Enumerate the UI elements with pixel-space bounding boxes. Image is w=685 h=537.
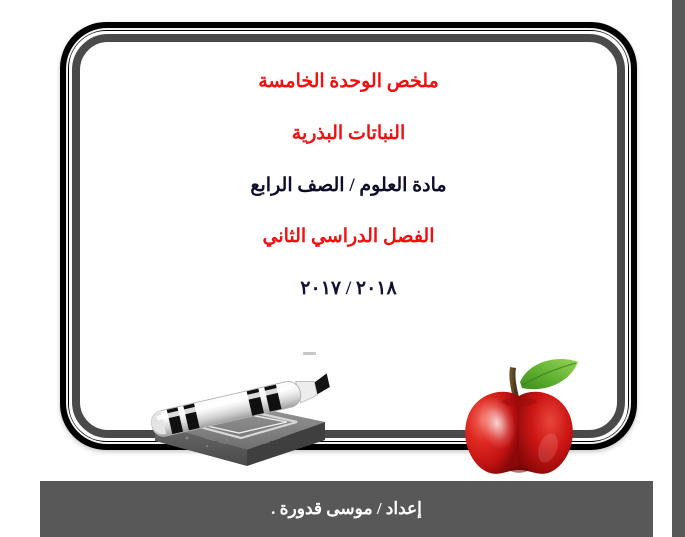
apple-leaf xyxy=(520,359,578,389)
right-edge-strip xyxy=(672,0,685,537)
title-line-unit-summary: ملخص الوحدة الخامسة xyxy=(92,70,605,94)
title-line-semester: الفصل الدراسي الثاني xyxy=(92,225,605,249)
document-page: ملخص الوحدة الخامسة النباتات البذرية ماد… xyxy=(0,0,685,537)
title-line-course-grade: مادة العلوم / الصف الرابع xyxy=(92,174,605,198)
cover-title-block: ملخص الوحدة الخامسة النباتات البذرية ماد… xyxy=(92,70,605,311)
marker-on-eraser-illustration xyxy=(135,362,335,472)
red-apple-illustration xyxy=(456,352,591,477)
title-line-subject-topic: النباتات البذرية xyxy=(92,122,605,146)
footer-author-bar: إعداد / موسى قدورة . xyxy=(40,481,653,537)
footer-author-text: إعداد / موسى قدورة . xyxy=(271,499,422,519)
title-line-academic-year: ٢٠١٨ / ٢٠١٧ xyxy=(92,277,605,301)
small-dash-mark xyxy=(303,352,316,355)
